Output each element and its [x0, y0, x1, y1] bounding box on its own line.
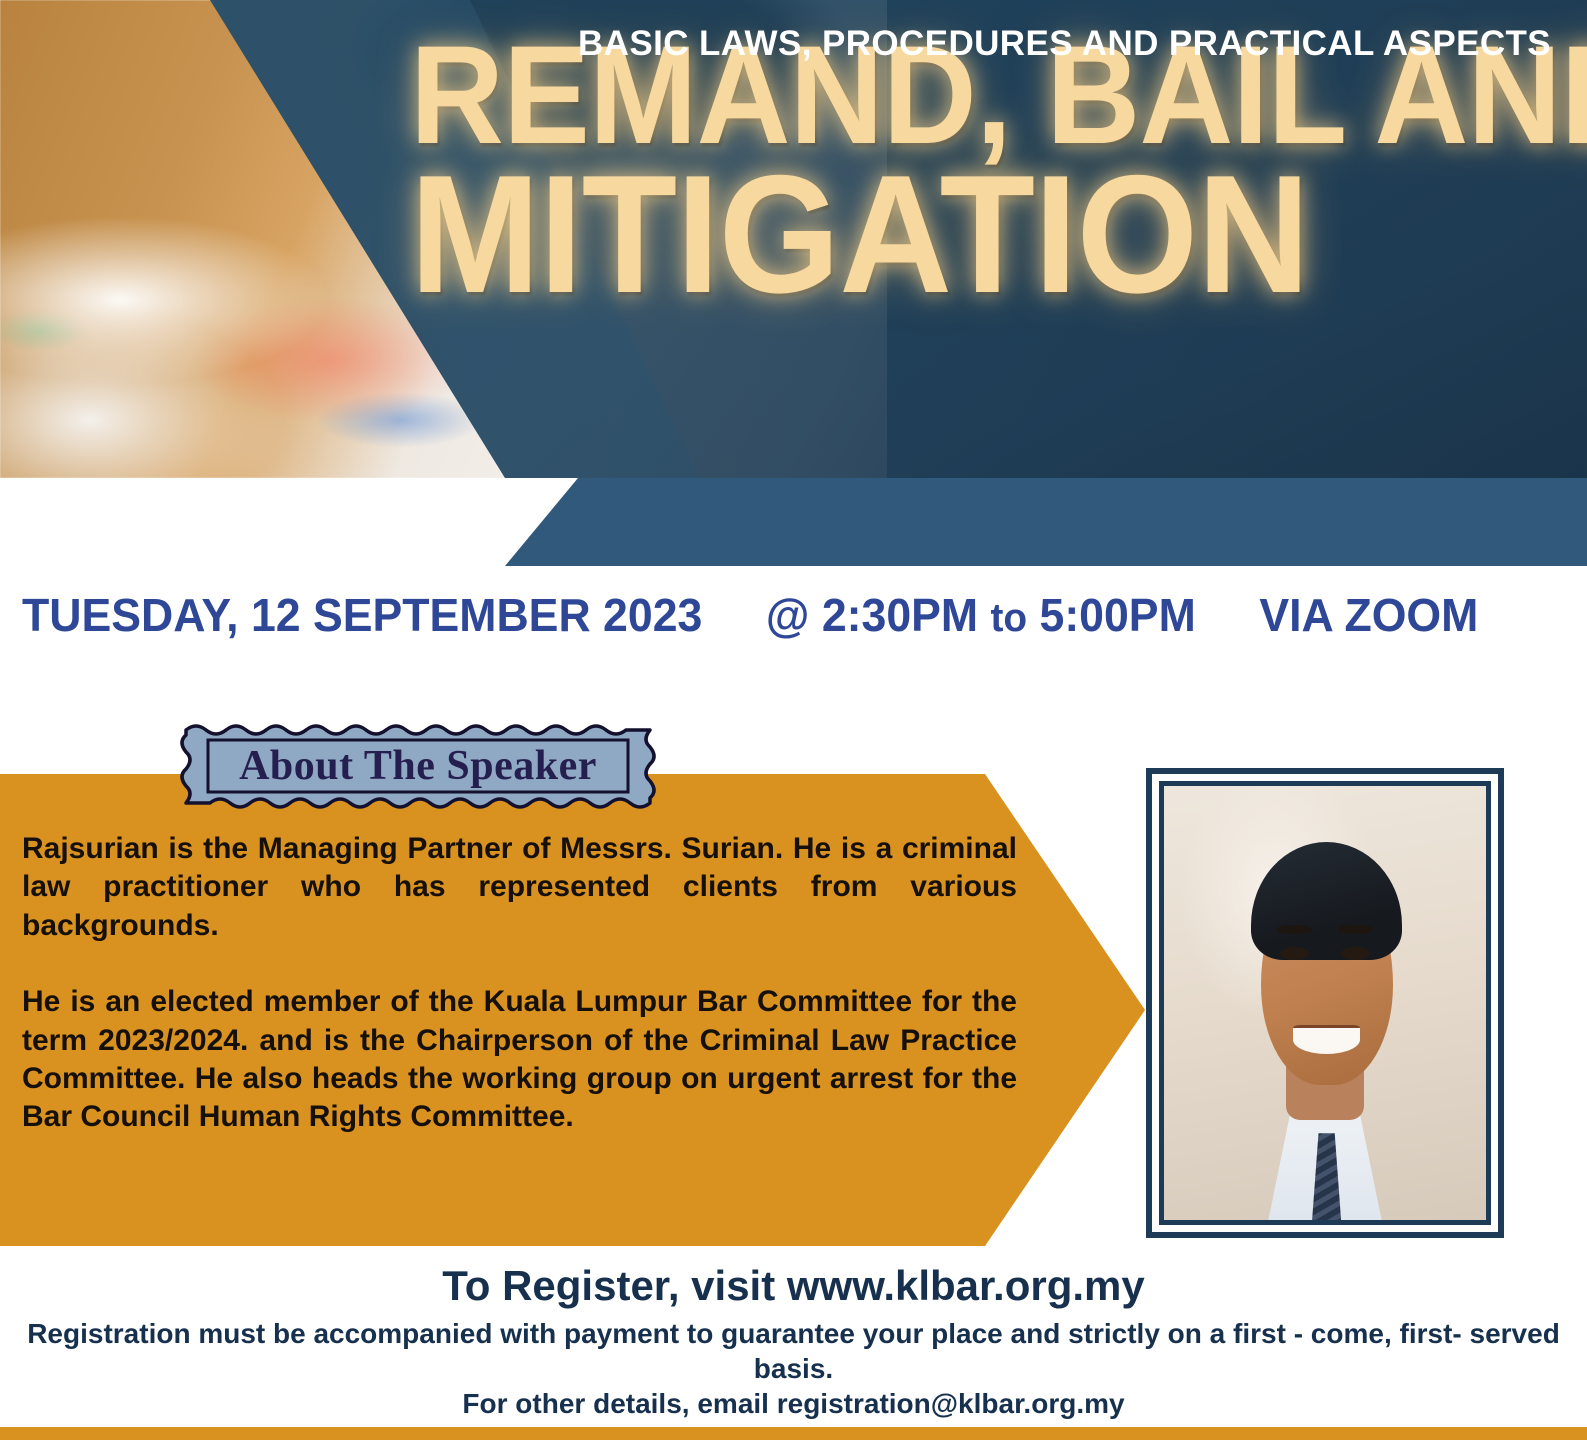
registration-note-line-2: For other details, email registration@kl… — [0, 1386, 1587, 1421]
event-time-end: 5:00PM — [1039, 589, 1195, 641]
poster-footer: To Register, visit www.klbar.org.my Regi… — [0, 1262, 1587, 1421]
event-platform: VIA ZOOM — [1259, 589, 1478, 641]
event-poster: REMAND, BAIL AND MITIGATION BASIC LAWS, … — [0, 0, 1587, 1440]
speaker-bio-paragraph-1: Rajsurian is the Managing Partner of Mes… — [22, 830, 1017, 945]
title-line-2: MITIGATION — [410, 155, 1505, 315]
event-time-joiner: to — [990, 596, 1027, 640]
register-heading[interactable]: To Register, visit www.klbar.org.my — [0, 1262, 1587, 1310]
about-the-speaker-badge: About The Speaker — [178, 718, 658, 813]
portrait-eyebrow-right — [1338, 925, 1373, 935]
badge-label: About The Speaker — [178, 718, 658, 813]
bottom-accent-bar — [0, 1427, 1587, 1440]
event-datetime-bar: TUESDAY, 12 SEPTEMBER 2023 @ 2:30PM to 5… — [0, 575, 1587, 655]
portrait-smile — [1293, 1025, 1361, 1054]
registration-note-line-1: Registration must be accompanied with pa… — [0, 1316, 1587, 1386]
subtitle-text: BASIC LAWS, PROCEDURES AND PRACTICAL ASP… — [578, 0, 1551, 88]
speaker-photo — [1159, 781, 1491, 1225]
portrait-eye-right — [1341, 947, 1370, 960]
event-time-start: @ 2:30PM — [766, 589, 978, 641]
portrait-eye-left — [1280, 947, 1309, 960]
speaker-bio-paragraph-2: He is an elected member of the Kuala Lum… — [22, 983, 1017, 1137]
event-date: TUESDAY, 12 SEPTEMBER 2023 — [22, 589, 702, 641]
speaker-photo-frame — [1146, 768, 1504, 1238]
portrait-eyebrow-left — [1277, 925, 1312, 935]
speaker-bio: Rajsurian is the Managing Partner of Mes… — [22, 830, 1017, 1137]
event-datetime-text: TUESDAY, 12 SEPTEMBER 2023 @ 2:30PM to 5… — [22, 588, 1478, 642]
subtitle-band — [0, 478, 1587, 566]
